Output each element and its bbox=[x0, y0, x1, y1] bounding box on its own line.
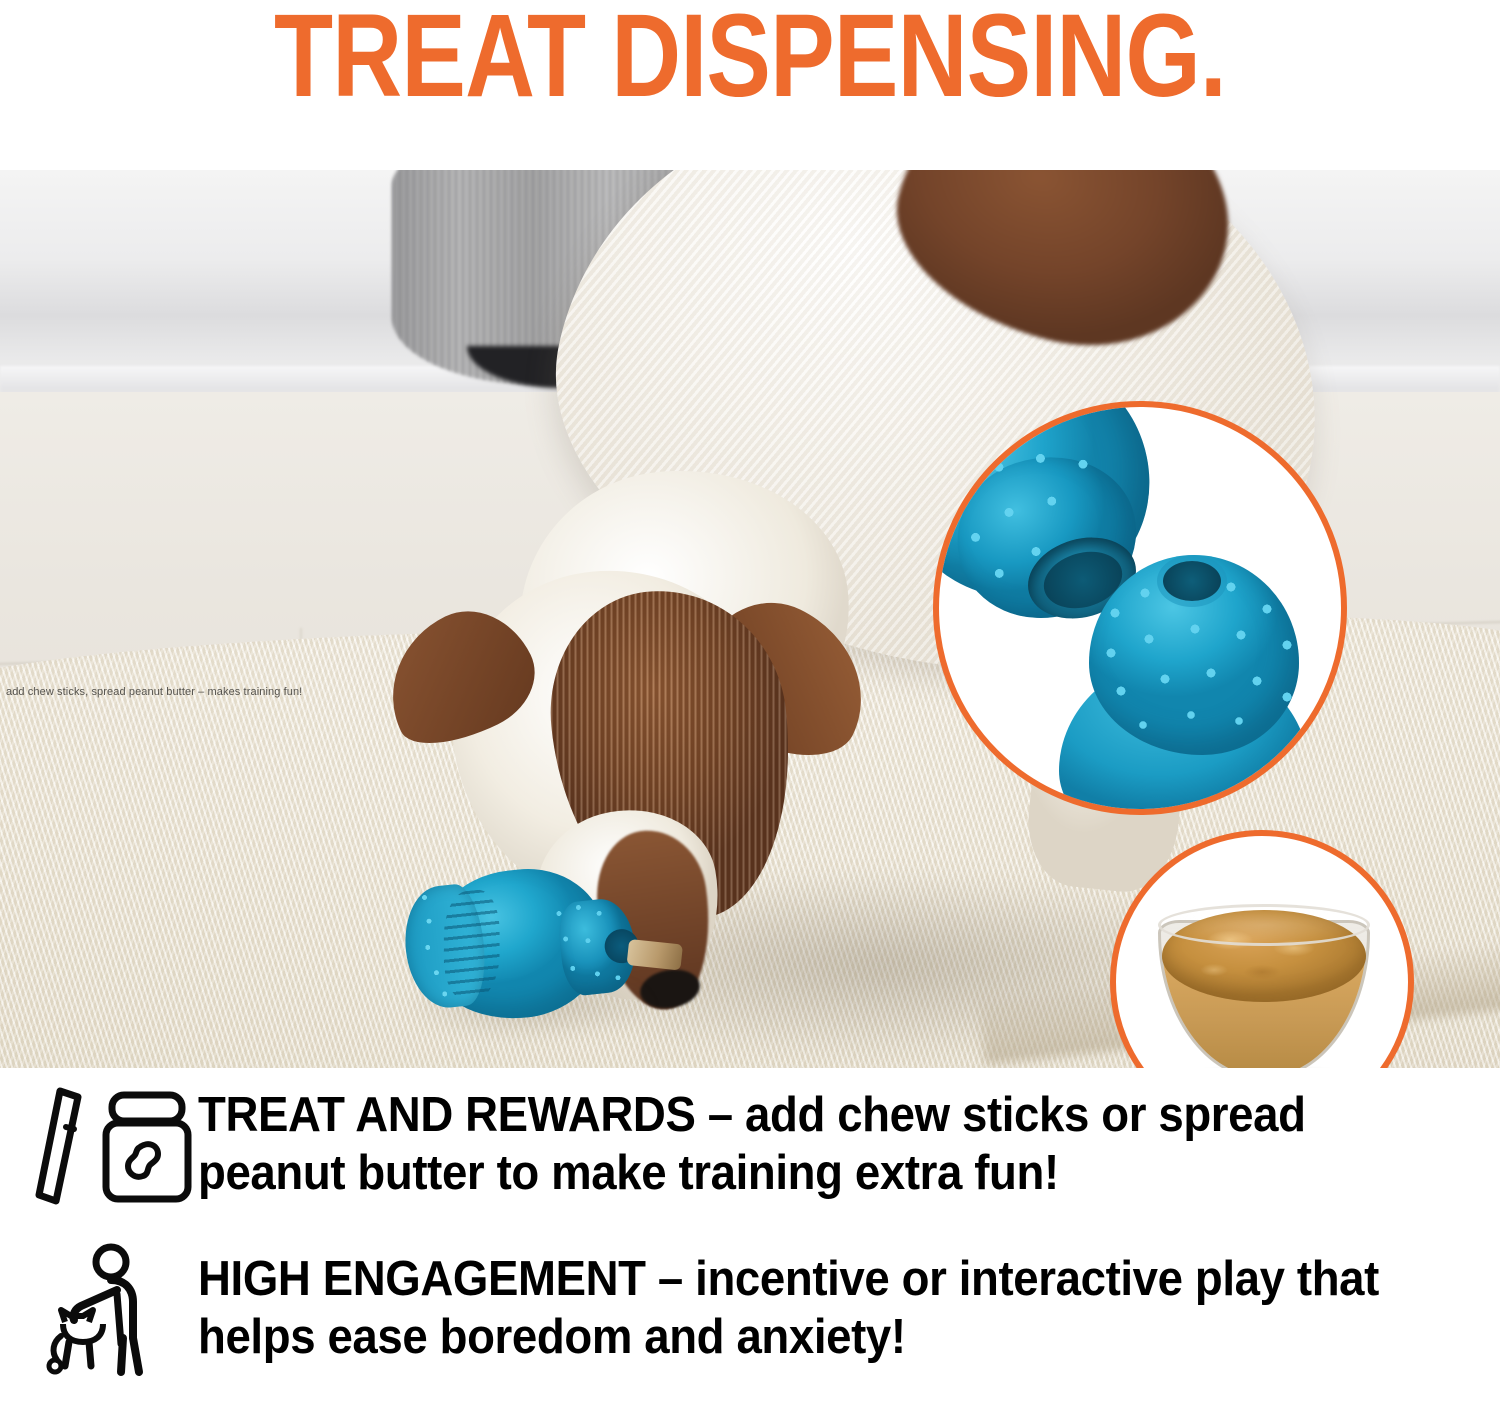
person-with-dog-icon bbox=[26, 1246, 198, 1374]
chew-stick bbox=[627, 939, 683, 971]
chew-stick-and-peanut-butter-jar-icon bbox=[26, 1082, 198, 1210]
feature-bullet-lead: HIGH ENGAGEMENT bbox=[198, 1252, 646, 1306]
headline-band: TREAT DISPENSING. bbox=[0, 0, 1500, 170]
feature-bullet-lead: TREAT AND REWARDS bbox=[198, 1088, 695, 1142]
feature-bullet-text: HIGH ENGAGEMENT – incentive or interacti… bbox=[198, 1246, 1396, 1366]
photo-caption: add chew sticks, spread peanut butter – … bbox=[6, 686, 302, 698]
peanut-butter-bowl-rim bbox=[1158, 904, 1370, 946]
closeup-toy-lower-hole bbox=[1163, 561, 1221, 601]
hero-photo: add chew sticks, spread peanut butter – … bbox=[0, 170, 1500, 1068]
feature-bullets: TREAT AND REWARDS – add chew sticks or s… bbox=[0, 1068, 1500, 1406]
blue-treat-toy bbox=[390, 848, 646, 1042]
feature-bullet-text: TREAT AND REWARDS – add chew sticks or s… bbox=[198, 1082, 1396, 1202]
toy-nubs-cap bbox=[413, 880, 485, 1006]
inset-product-closeup bbox=[933, 401, 1347, 815]
feature-bullet-high-engagement: HIGH ENGAGEMENT – incentive or interacti… bbox=[26, 1246, 1486, 1374]
page-title: TREAT DISPENSING. bbox=[135, 0, 1365, 116]
feature-bullet-treat-and-rewards: TREAT AND REWARDS – add chew sticks or s… bbox=[26, 1082, 1486, 1210]
product-infographic: TREAT DISPENSING. bbox=[0, 0, 1500, 1406]
